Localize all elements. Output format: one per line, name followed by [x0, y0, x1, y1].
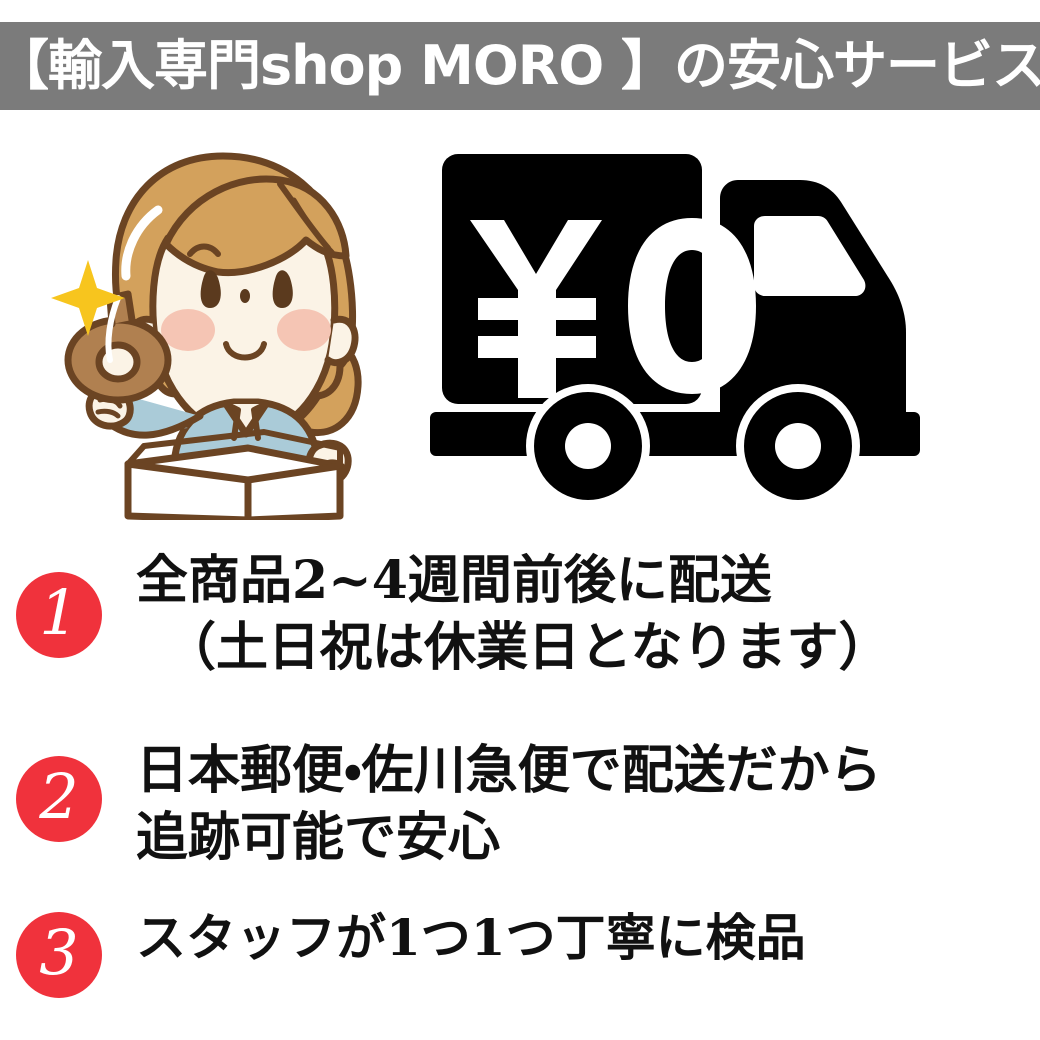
feature-item-1: 1 全商品2~4週間前後に配送 （土日祝は休業日となります） — [0, 548, 1040, 681]
badge-number-2-label: 2 — [39, 766, 78, 828]
feature-text-3: スタッフが1つ1つ丁寧に検品 — [136, 906, 1040, 970]
page-title: 【輸入専門shop MORO 】の安心サービス — [0, 39, 1040, 93]
feature-3-line-1: スタッフが1つ1つ丁寧に検品 — [136, 906, 1040, 970]
feature-2-line-1: 日本郵便・佐川急便で配送だから — [136, 738, 1040, 805]
feature-text-2: 日本郵便・佐川急便で配送だから 追跡可能で安心 — [136, 738, 1040, 871]
badge-number-1-label: 1 — [39, 582, 78, 644]
badge-number-3-label: 3 — [39, 922, 78, 984]
header-banner: 【輸入専門shop MORO 】の安心サービス — [0, 22, 1040, 110]
feature-2-line-2: 追跡可能で安心 — [136, 805, 1040, 872]
feature-item-3: 3 スタッフが1つ1つ丁寧に検品 — [0, 906, 1040, 998]
badge-number-3: 3 — [16, 912, 102, 998]
staff-woman-illustration — [48, 148, 398, 520]
feature-item-2: 2 日本郵便・佐川急便で配送だから 追跡可能で安心 — [0, 738, 1040, 871]
feature-1-line-1: 全商品2~4週間前後に配送 — [136, 548, 1040, 615]
feature-1-line-2: （土日祝は休業日となります） — [136, 615, 1040, 682]
badge-number-1: 1 — [16, 572, 102, 658]
free-shipping-truck-illustration — [420, 140, 1000, 520]
illustration-row — [0, 120, 1040, 530]
feature-text-1: 全商品2~4週間前後に配送 （土日祝は休業日となります） — [136, 548, 1040, 681]
badge-number-2: 2 — [16, 756, 102, 842]
